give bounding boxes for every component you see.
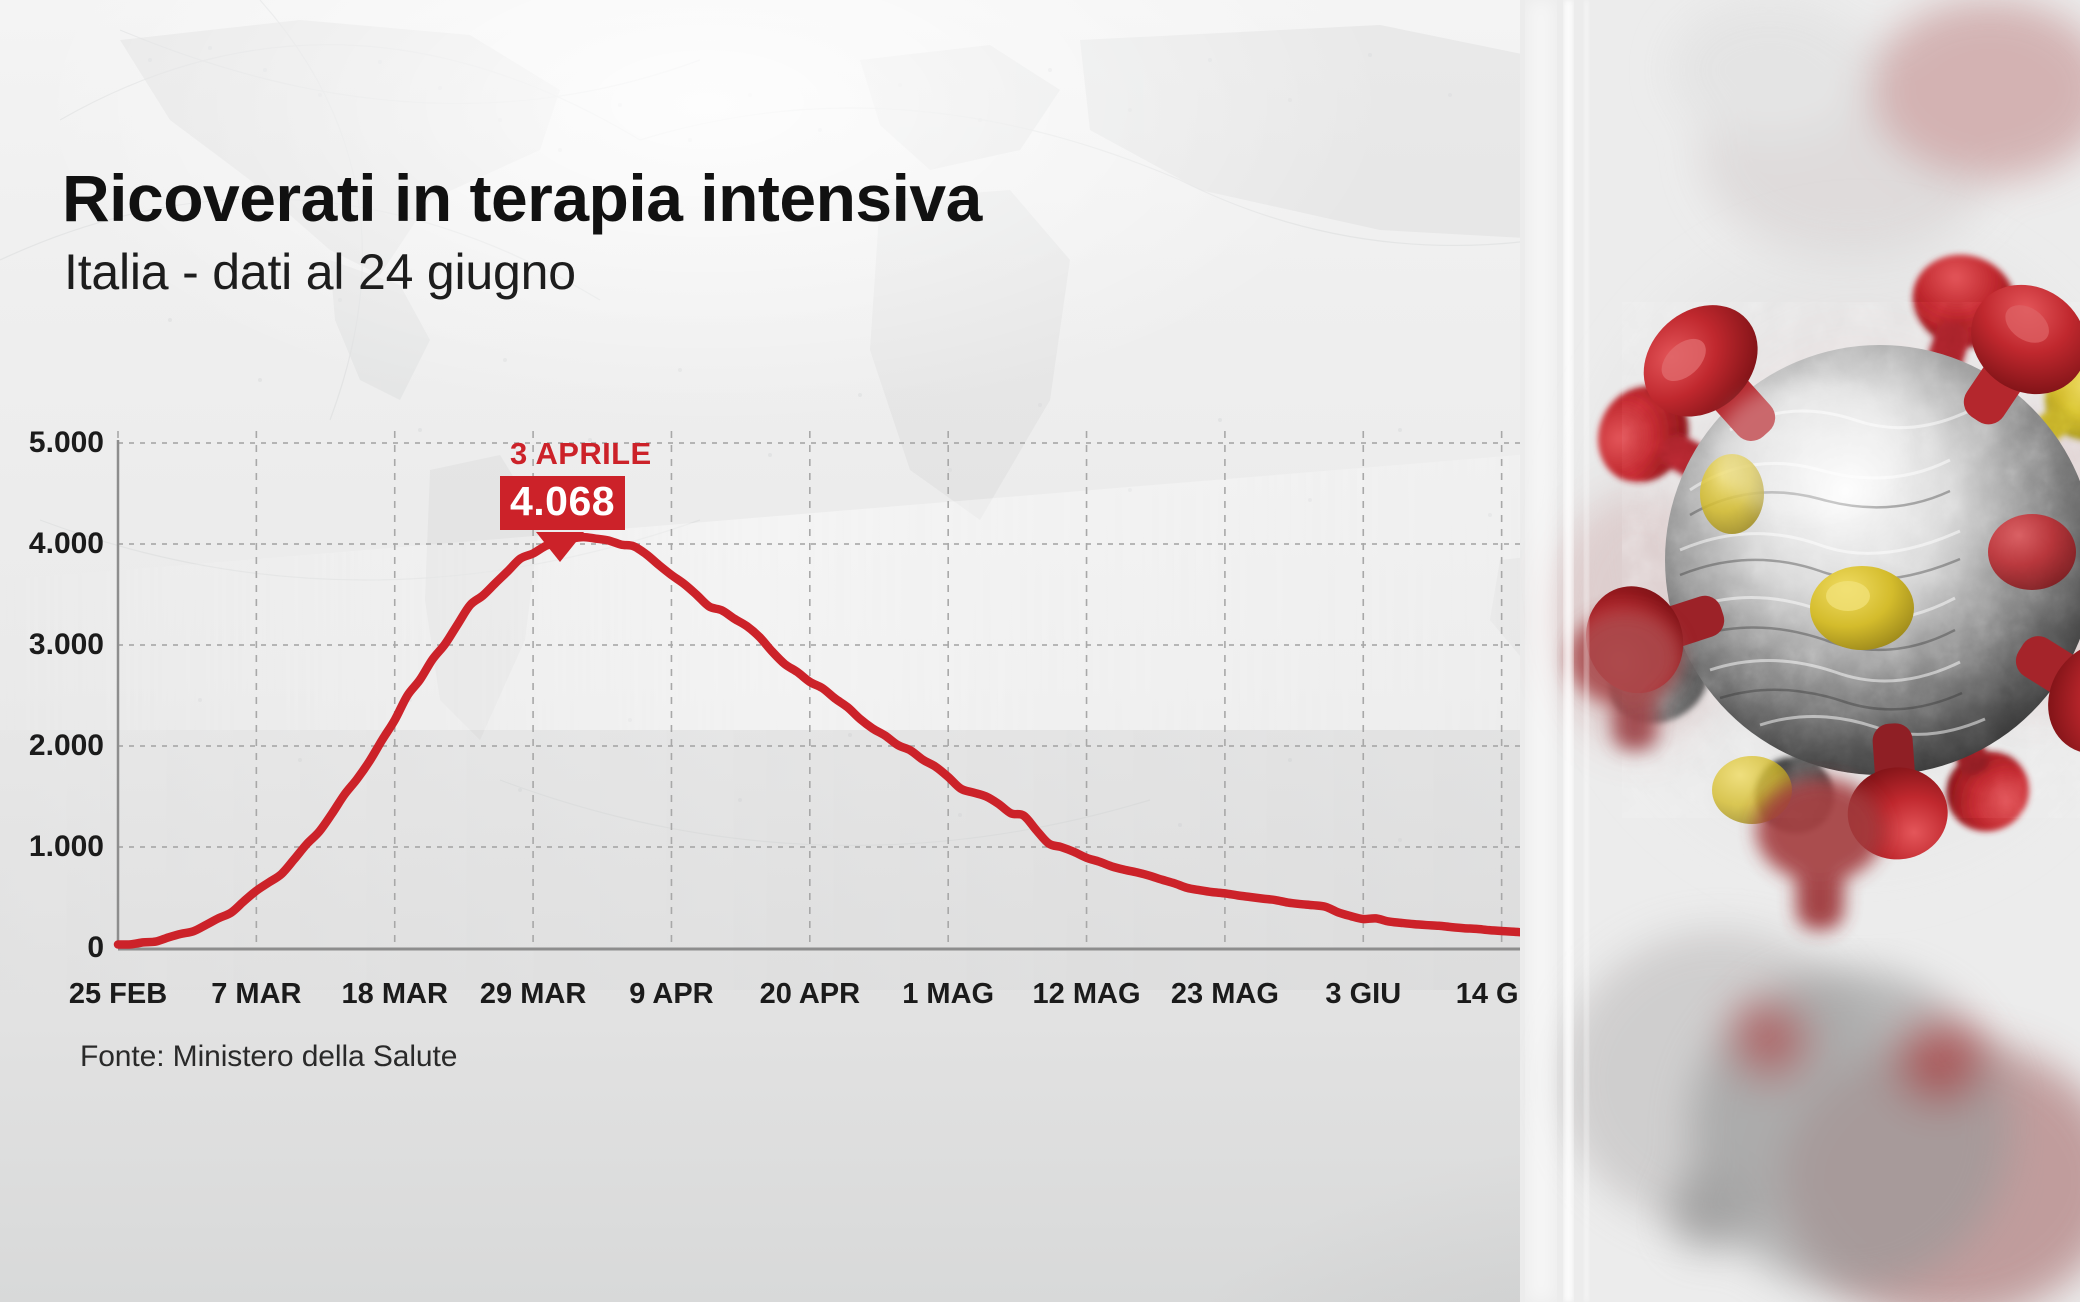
coronavirus-icon bbox=[1520, 0, 2080, 1302]
source-note: Fonte: Ministero della Salute bbox=[80, 1040, 457, 1074]
annotation-value-badge: 4.068 bbox=[500, 476, 625, 530]
chart-container: 01.0002.0003.0004.0005.000 25 FEB7 MAR18… bbox=[0, 0, 1760, 1100]
series-line-ricoverati bbox=[118, 537, 1640, 944]
line-chart-plot bbox=[0, 0, 1760, 1100]
triangle-down-icon bbox=[536, 532, 584, 562]
annotation-date-label: 3 APRILE bbox=[510, 438, 710, 469]
peak-annotation: 3 APRILE 4.068 bbox=[500, 438, 710, 562]
vertical-gridlines bbox=[118, 431, 1627, 948]
